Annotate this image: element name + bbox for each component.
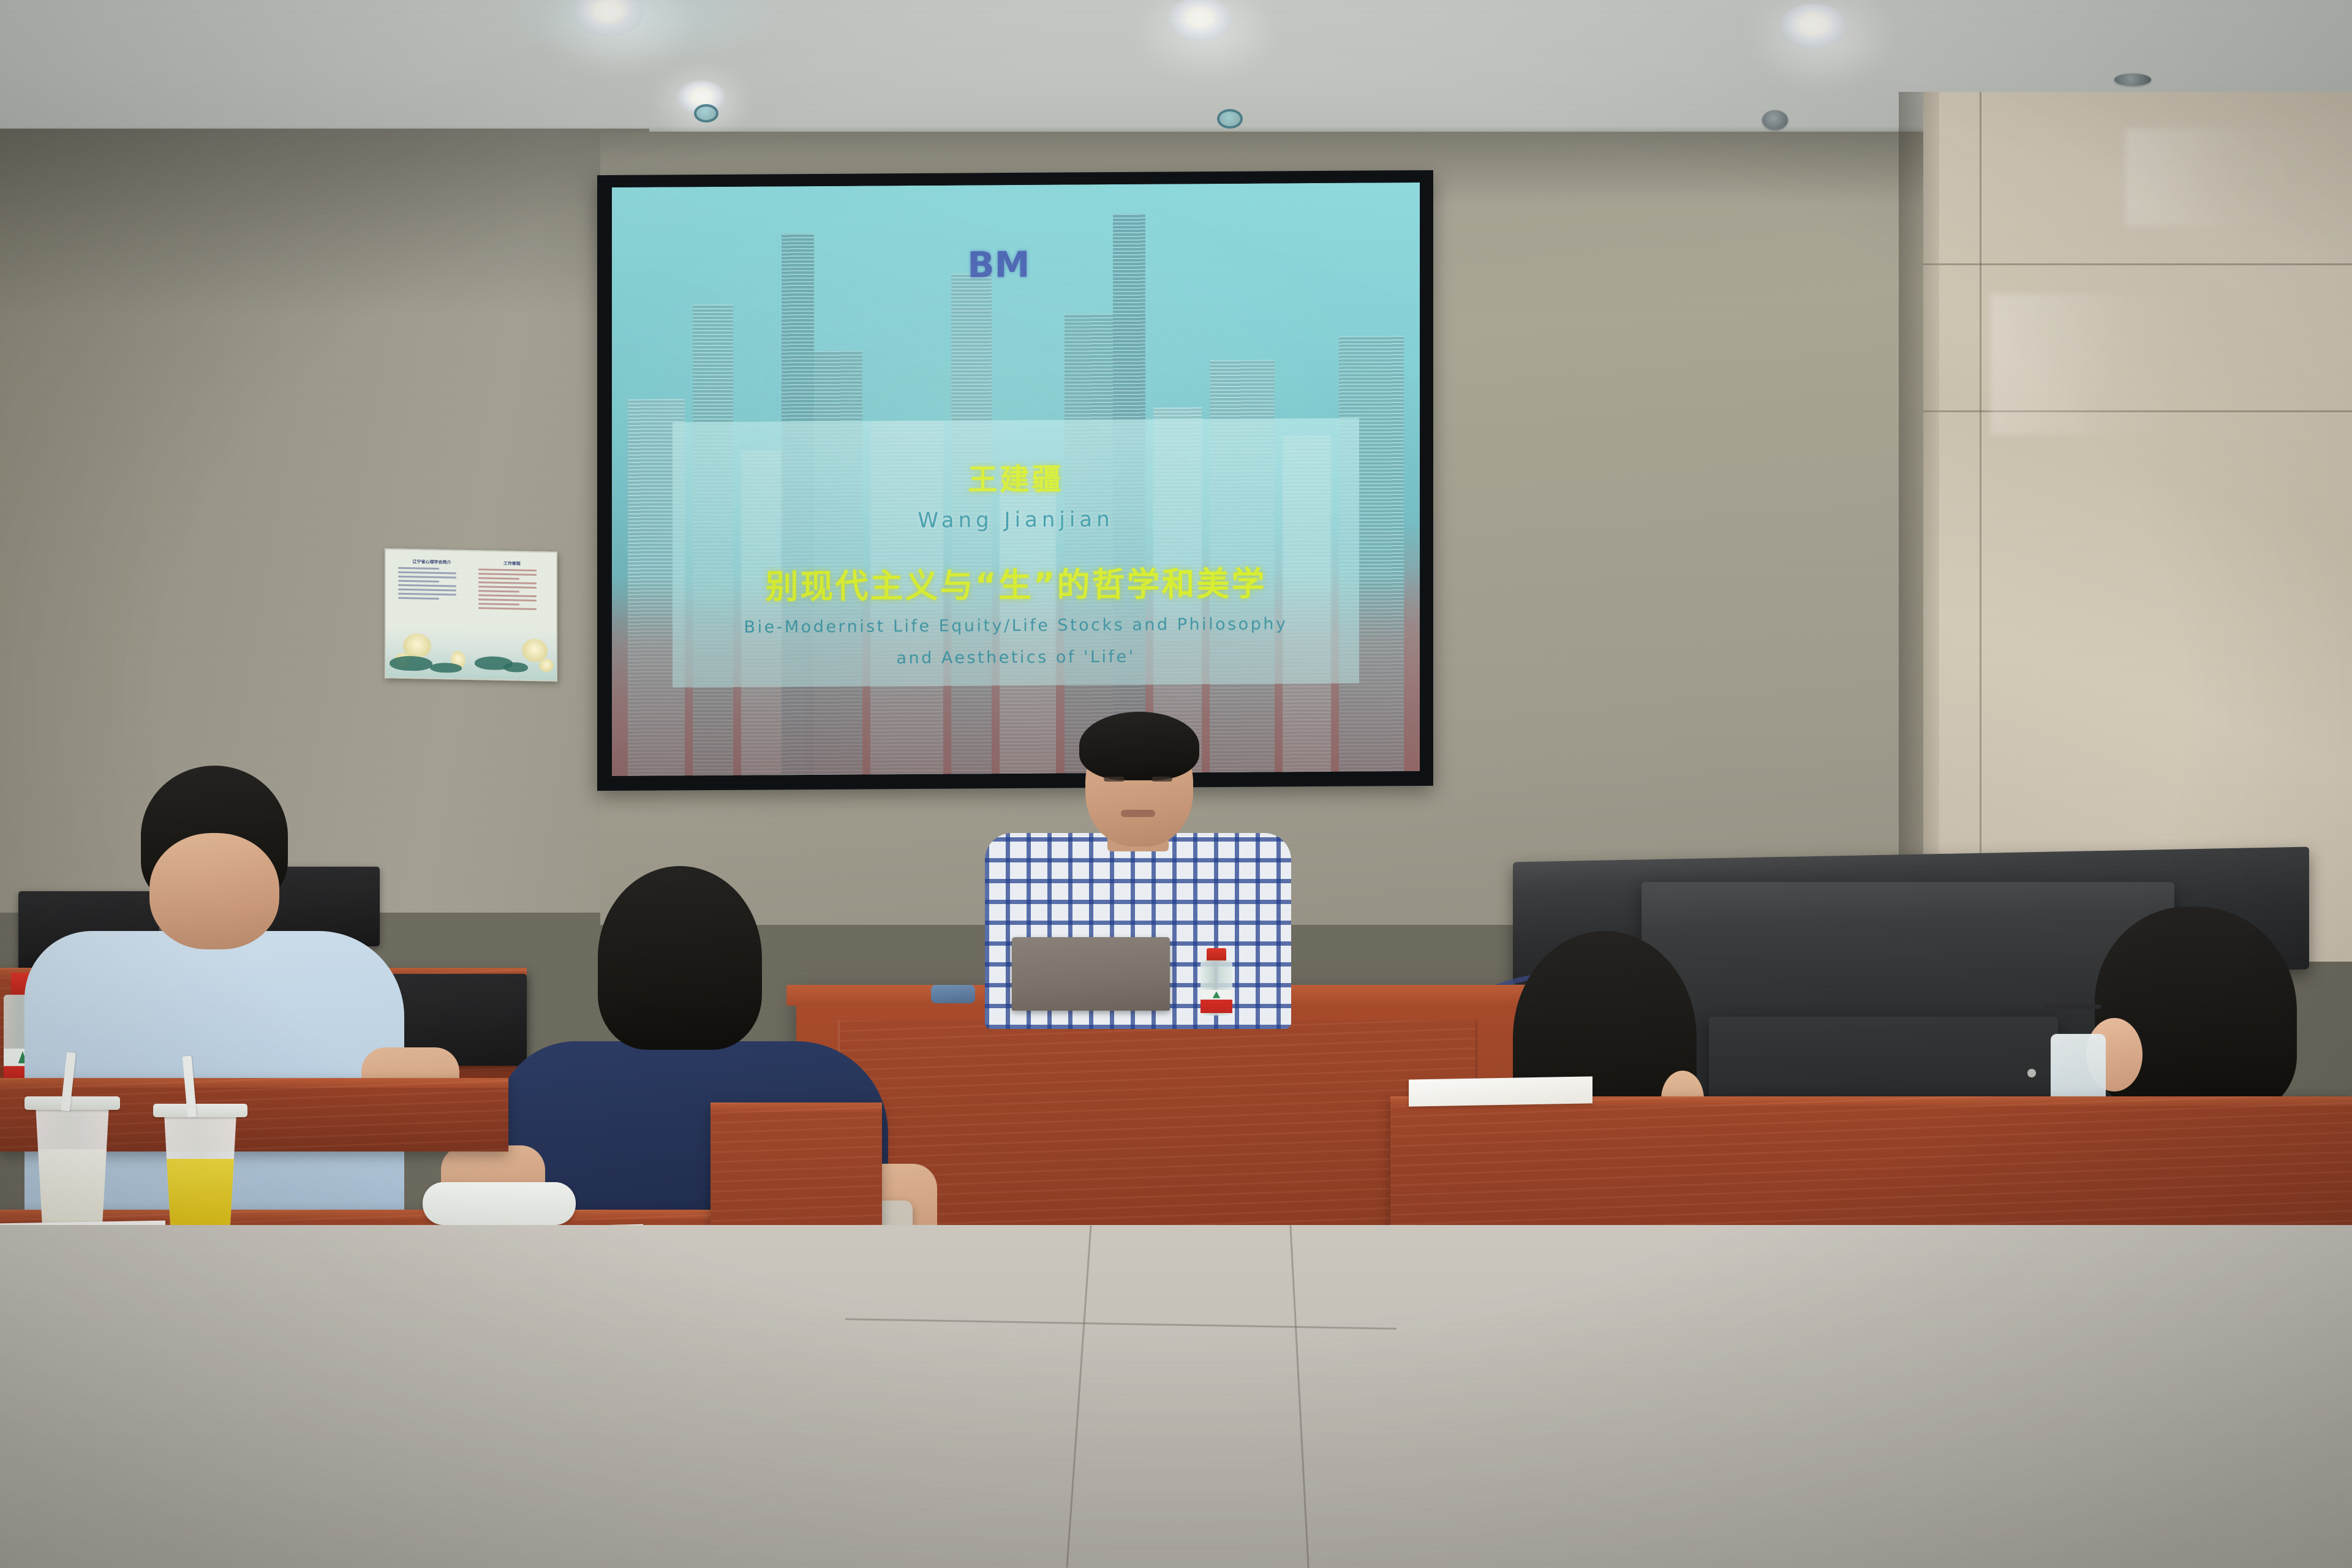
- slide-speaker-name-en: Wang Jianjian: [673, 506, 1359, 535]
- attendee-mid-left-hair: [598, 866, 762, 1050]
- papers-right[interactable]: [1409, 1076, 1593, 1106]
- cup-lemon-tea-lid[interactable]: [153, 1104, 247, 1117]
- presenter-hair: [1079, 712, 1199, 780]
- sprinkler-icon: [2114, 73, 2151, 86]
- cup-lemon-tea[interactable]: [158, 1110, 243, 1232]
- projection-screen[interactable]: BM 王建疆 Wang Jianjian 别现代主义与“生”的哲学和美学 Bie…: [597, 170, 1433, 791]
- attendee-front-left-head: [149, 833, 279, 949]
- slide-subtitle-line1: Bie-Modernist Life Equity/Life Stocks an…: [673, 614, 1359, 638]
- slide-speaker-name-cn: 王建疆: [673, 453, 1359, 500]
- marble-seam: [1980, 92, 1981, 962]
- floor-seam: [1066, 1226, 1091, 1568]
- eyeglasses-icon: [2045, 1005, 2101, 1009]
- slide-text-panel: 王建疆 Wang Jianjian 别现代主义与“生”的哲学和美学 Bie-Mo…: [673, 418, 1359, 687]
- slide-title-cn: 别现代主义与“生”的哲学和美学: [673, 556, 1359, 609]
- wall-right-marble: [1923, 92, 2352, 962]
- smoke-detector-icon: [694, 104, 718, 123]
- floor: [0, 1225, 2352, 1568]
- poster-left-heading: 辽宁省心理学会简介: [394, 559, 469, 566]
- cup-milk-tea-lid[interactable]: [24, 1096, 120, 1110]
- bm-logo-icon: BM: [967, 244, 1030, 286]
- sprinkler-icon: [1762, 110, 1788, 130]
- wall-poster: 辽宁省心理学会简介 工作章程: [385, 548, 557, 681]
- cup-lemon-tea-contents: [158, 1159, 243, 1232]
- presenter-eye-right: [1151, 777, 1172, 782]
- marble-reflection: [2125, 129, 2309, 227]
- poster-lotus-artwork: [386, 626, 556, 680]
- pencil-case[interactable]: [423, 1182, 576, 1225]
- cup-milk-tea-contents: [29, 1149, 115, 1225]
- presenter-remote[interactable]: [931, 985, 975, 1003]
- water-bottle-lectern[interactable]: [1200, 948, 1232, 1016]
- laptop[interactable]: [1012, 937, 1170, 1011]
- presenter-eye-left: [1104, 777, 1125, 782]
- slide-subtitle-line2: and Aesthetics of 'Life': [673, 646, 1359, 669]
- wall-corner: [1899, 92, 1939, 968]
- cup-milk-tea[interactable]: [29, 1102, 115, 1225]
- smoke-detector-icon: [1217, 109, 1243, 129]
- presenter-mouth: [1121, 810, 1155, 817]
- marble-reflection: [1991, 294, 2193, 435]
- poster-right-heading: 工作章程: [475, 560, 549, 567]
- floor-seam: [1289, 1225, 1309, 1567]
- floor-seam: [845, 1318, 1396, 1330]
- projection-screen-surface: BM 王建疆 Wang Jianjian 别现代主义与“生”的哲学和美学 Bie…: [612, 183, 1420, 776]
- marble-seam: [1923, 263, 2352, 265]
- ceiling-downlight: [1779, 4, 1848, 49]
- lecture-hall-photo: BM 王建疆 Wang Jianjian 别现代主义与“生”的哲学和美学 Bie…: [0, 0, 2352, 1568]
